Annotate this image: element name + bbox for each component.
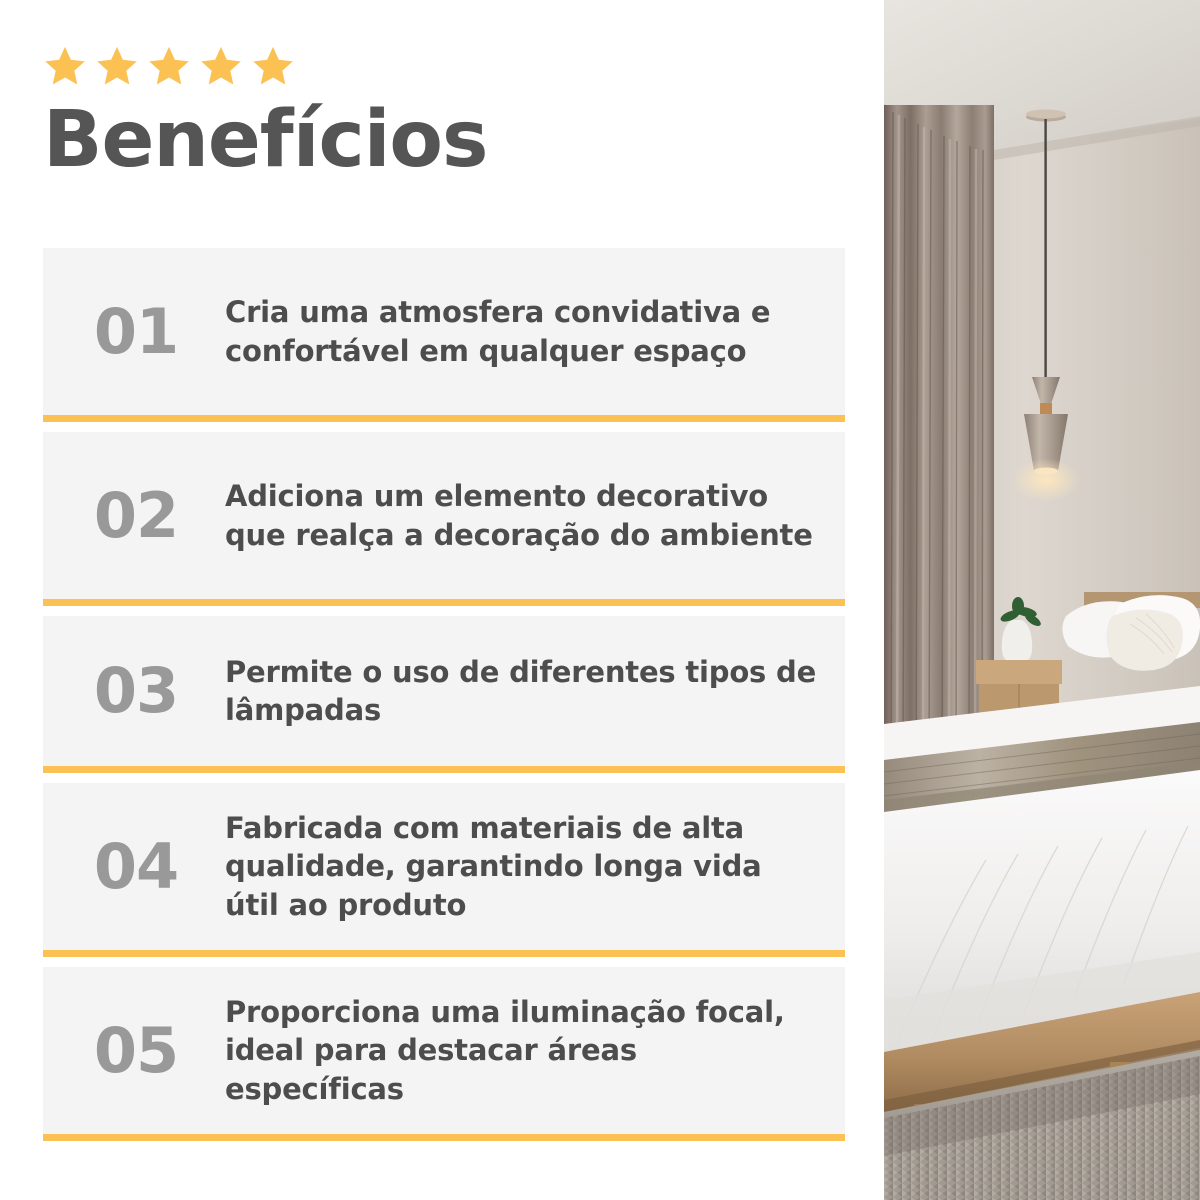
benefit-card: 01 Cria uma atmosfera convidativa e conf…: [43, 248, 845, 415]
card-gap: [43, 957, 845, 967]
list-item: 02 Adiciona um elemento decorativo que r…: [43, 432, 845, 616]
bedroom-photo-illustration: [884, 0, 1200, 1200]
page-title: Benefícios: [43, 100, 487, 182]
list-item: 05 Proporciona uma iluminação focal, ide…: [43, 967, 845, 1141]
star-icon: [43, 44, 87, 88]
benefit-number: 01: [43, 301, 225, 363]
accent-divider: [43, 950, 845, 957]
card-gap: [43, 606, 845, 616]
benefit-number: 04: [43, 836, 225, 898]
benefit-card: 03 Permite o uso de diferentes tipos de …: [43, 616, 845, 766]
star-icon: [251, 44, 295, 88]
benefit-text: Cria uma atmosfera convidativa e confort…: [225, 293, 827, 370]
benefit-number: 05: [43, 1020, 225, 1082]
benefit-card: 04 Fabricada com materiais de alta quali…: [43, 783, 845, 950]
accent-divider: [43, 1134, 845, 1141]
list-item: 03 Permite o uso de diferentes tipos de …: [43, 616, 845, 783]
bedroom-photo: [884, 0, 1200, 1200]
list-item: 01 Cria uma atmosfera convidativa e conf…: [43, 248, 845, 432]
accent-divider: [43, 415, 845, 422]
benefit-text: Adiciona um elemento decorativo que real…: [225, 477, 827, 554]
star-icon: [147, 44, 191, 88]
accent-divider: [43, 599, 845, 606]
benefits-list: 01 Cria uma atmosfera convidativa e conf…: [43, 248, 845, 1141]
card-gap: [43, 773, 845, 783]
list-item: 04 Fabricada com materiais de alta quali…: [43, 783, 845, 967]
benefit-text: Permite o uso de diferentes tipos de lâm…: [225, 653, 827, 730]
benefit-number: 03: [43, 660, 225, 722]
benefits-poster: Benefícios 01 Cria uma atmosfera convida…: [0, 0, 1200, 1200]
content-pane: Benefícios 01 Cria uma atmosfera convida…: [0, 0, 884, 1200]
star-icon: [95, 44, 139, 88]
accent-divider: [43, 766, 845, 773]
benefit-text: Proporciona uma iluminação focal, ideal …: [225, 993, 827, 1108]
rating-stars: [43, 44, 295, 88]
star-icon: [199, 44, 243, 88]
card-gap: [43, 422, 845, 432]
benefit-card: 05 Proporciona uma iluminação focal, ide…: [43, 967, 845, 1134]
benefit-card: 02 Adiciona um elemento decorativo que r…: [43, 432, 845, 599]
benefit-number: 02: [43, 485, 225, 547]
benefit-text: Fabricada com materiais de alta qualidad…: [225, 809, 827, 924]
